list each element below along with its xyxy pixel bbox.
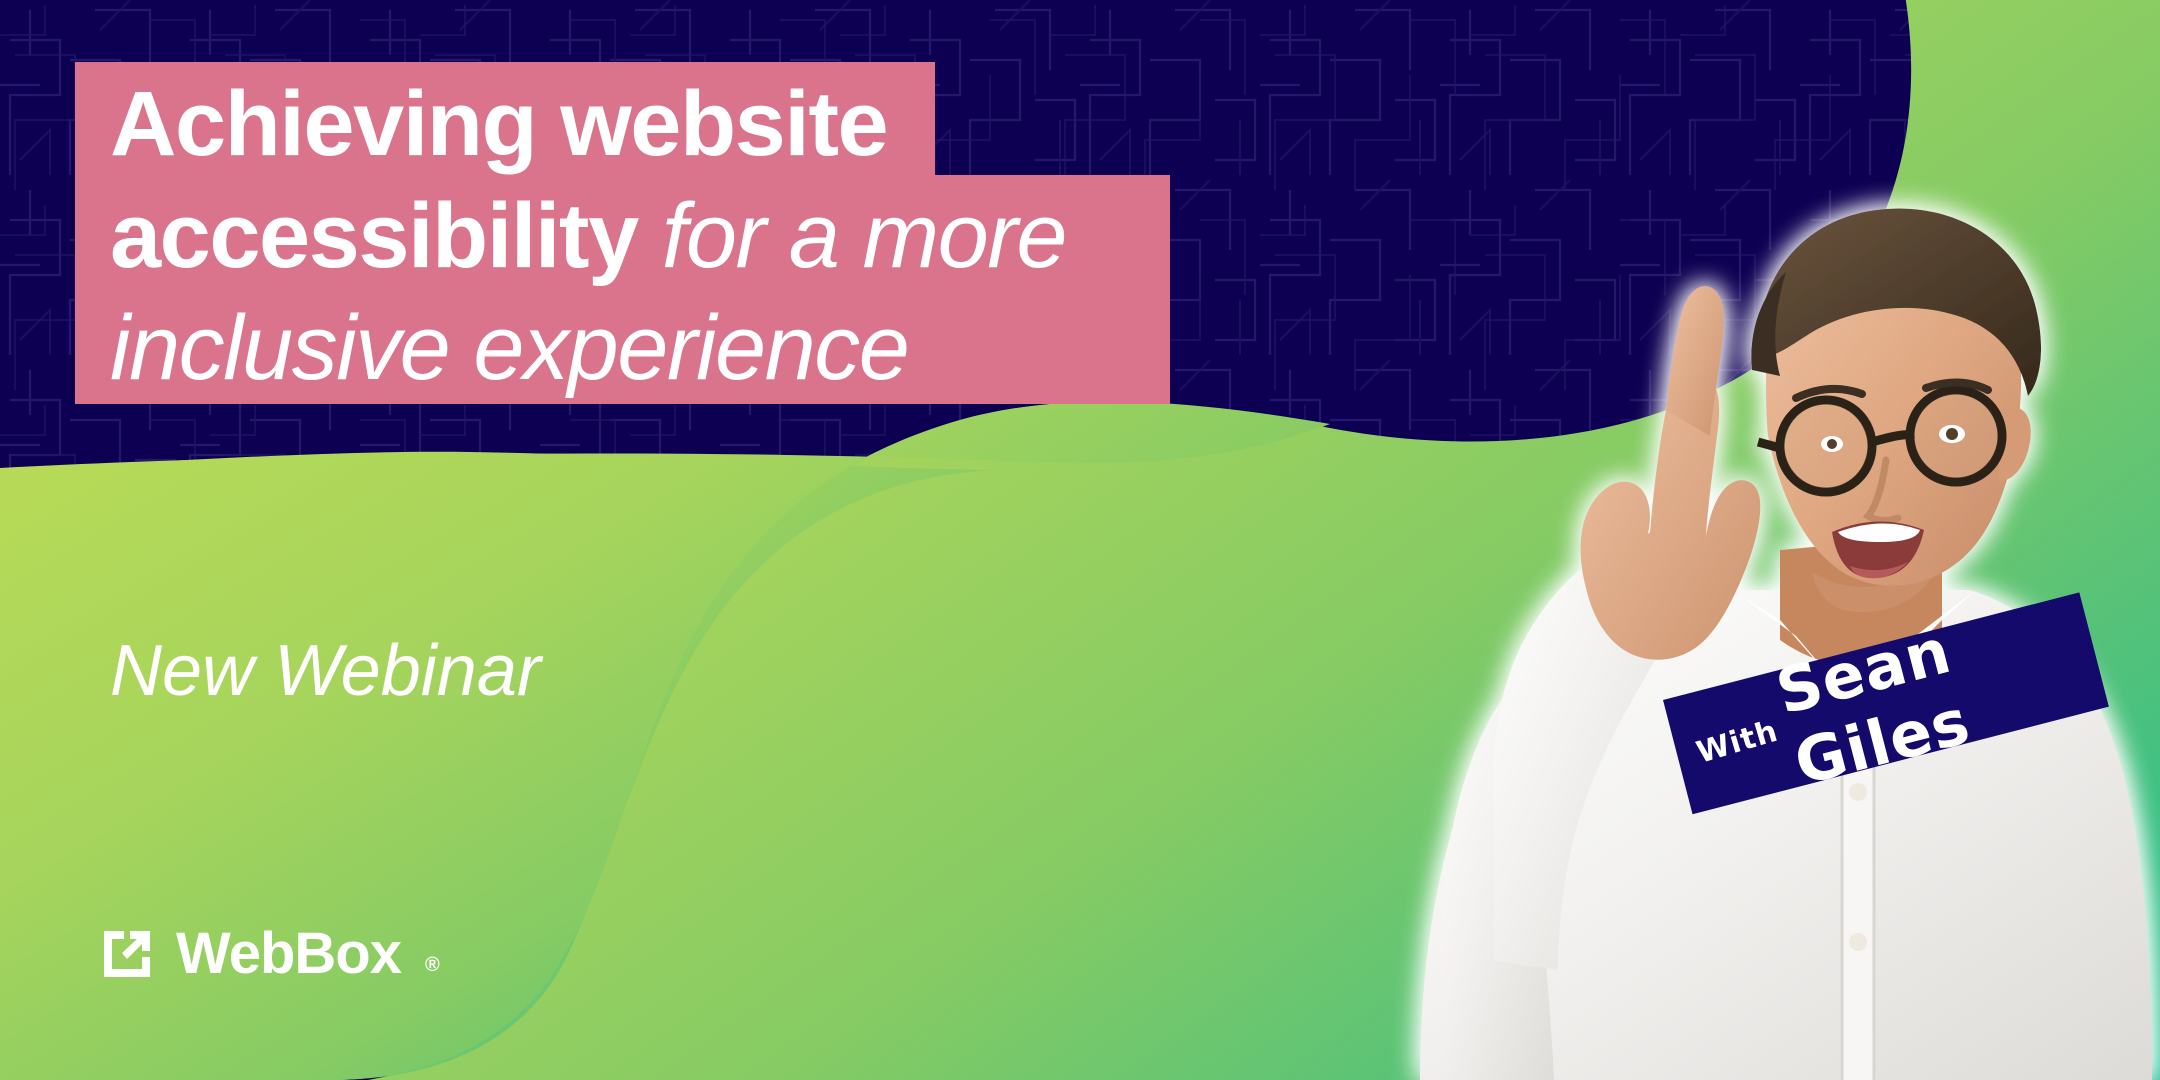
webbox-logo[interactable]: WebBox ®	[100, 925, 440, 983]
title-line-1-text: Achieving website	[110, 73, 887, 175]
title-line-1: Achieving website	[110, 68, 1230, 180]
subtitle: New Webinar	[110, 630, 541, 712]
title-line-2-bold-text: accessibility	[110, 185, 638, 287]
title-line-3: inclusive experience	[110, 292, 1230, 404]
webbox-wordmark: WebBox	[176, 925, 401, 983]
webbox-square-arrow-icon	[100, 927, 154, 981]
title-line-3-text: inclusive experience	[110, 297, 908, 399]
presenter-photo	[1090, 80, 2160, 1080]
title-line-2: accessibility for a more	[110, 180, 1230, 292]
page-title: Achieving website accessibility for a mo…	[110, 68, 1230, 404]
title-line-2-italic-text: for a more	[638, 185, 1066, 287]
banner-canvas: Achieving website accessibility for a mo…	[0, 0, 2160, 1080]
badge-with-label: With	[1693, 713, 1783, 770]
registered-trademark-icon: ®	[425, 954, 440, 977]
